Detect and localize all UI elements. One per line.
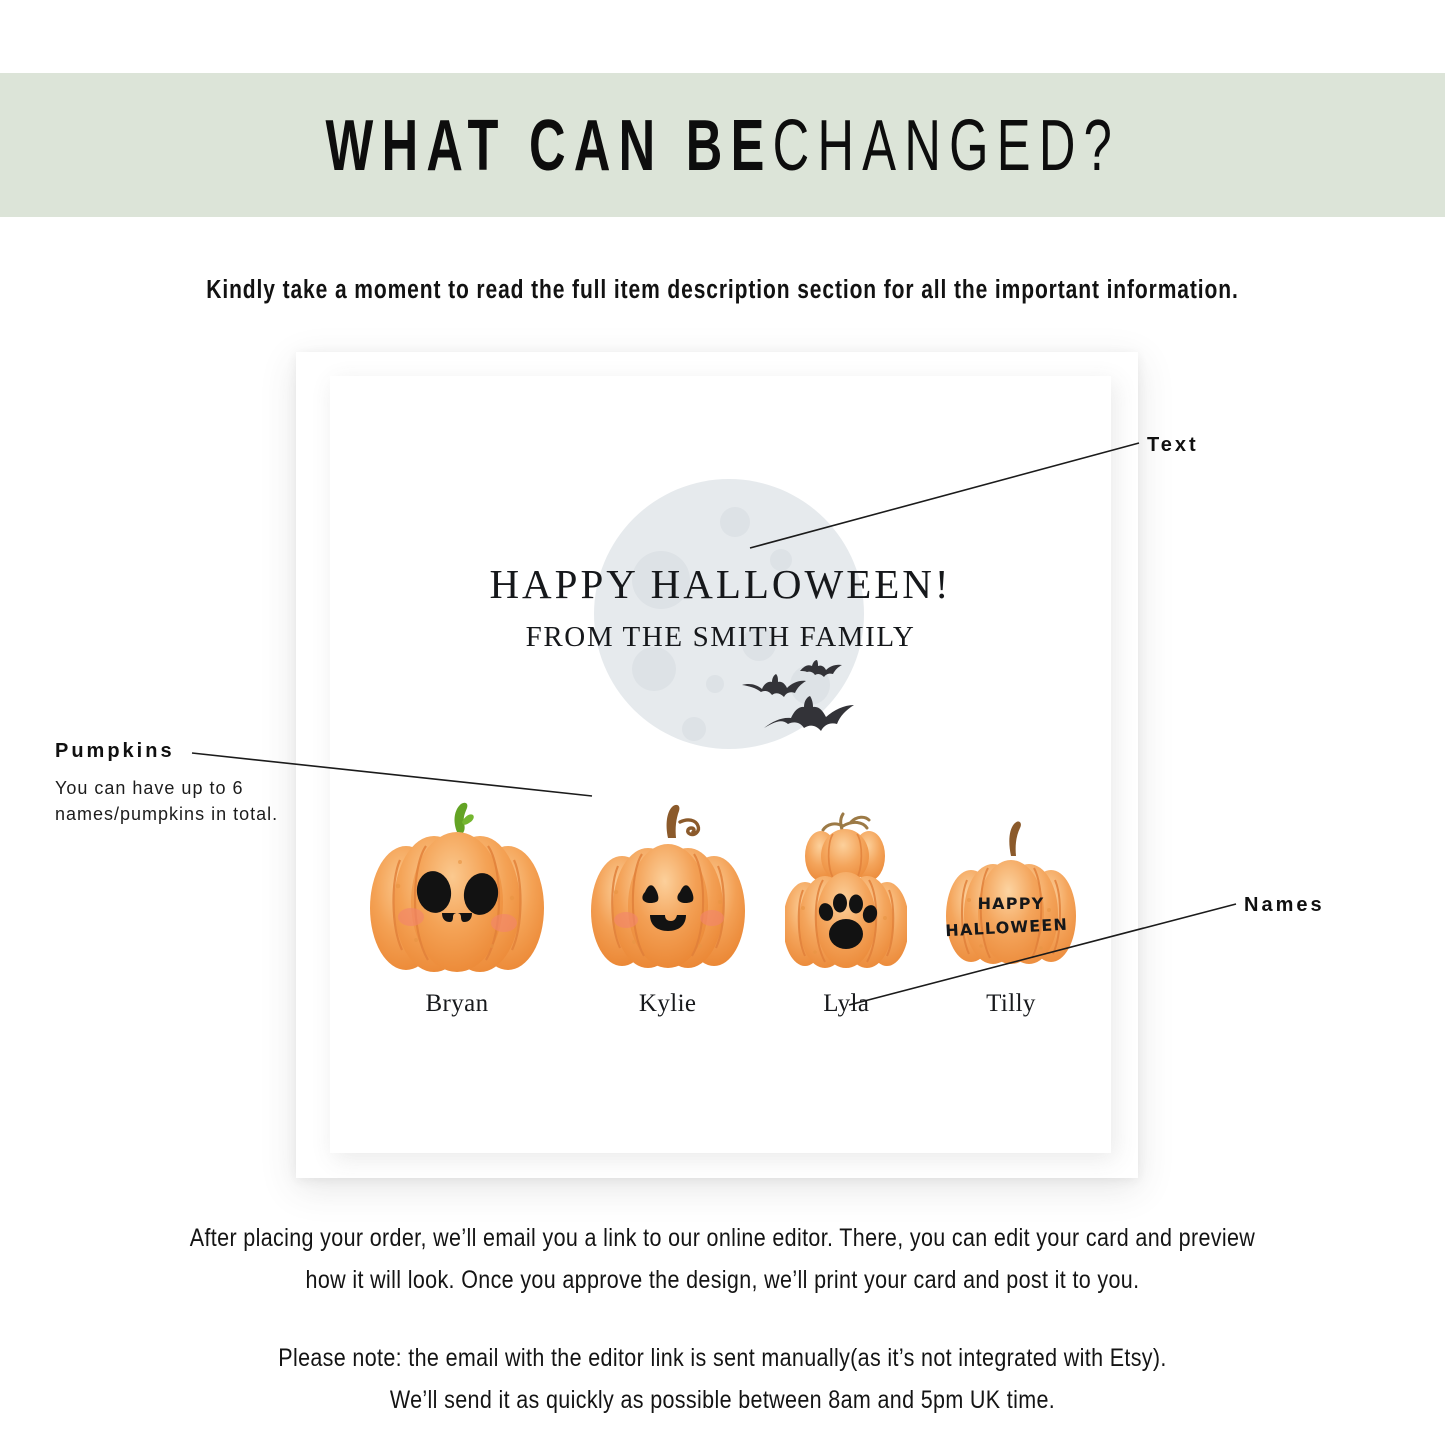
bats-graphic [740,654,870,744]
footer-paragraph-2: Please note: the email with the editor l… [0,1333,1445,1417]
pumpkin-name-2: Lyla [823,990,869,1018]
page-title: WHAT CAN BECHANGED? [325,109,1120,182]
annotation-label-pumpkins: Pumpkins [55,740,175,763]
pumpkin-graphic-bryan [364,800,550,978]
instruction-subtitle: Kindly take a moment to read the full it… [0,276,1445,305]
moon-crater [720,507,750,537]
pumpkin-item-1[interactable]: Kylie [588,800,748,1018]
footer-p2-line2: We’ll send it as quickly as possible bet… [0,1375,1445,1425]
card-text-group: HAPPY HALLOWEEN! FROM THE SMITH FAMILY [330,560,1111,654]
greeting-card-preview: HAPPY HALLOWEEN! FROM THE SMITH FAMILY [330,376,1111,1153]
pumpkin-graphic-lyla [785,800,907,978]
header-banner: WHAT CAN BECHANGED? [0,73,1445,217]
annotation-label-names: Names [1244,894,1325,917]
pumpkin-row: Bryan [364,808,1077,1018]
pumpkin-item-3[interactable]: HAPPY HALLOWEEN Tilly [945,800,1077,1018]
pumpkin-item-2[interactable]: Lyla [785,800,907,1018]
footer-paragraph-1: After placing your order, we’ll email yo… [0,1213,1445,1297]
pumpkin-graphic-tilly: HAPPY HALLOWEEN [945,800,1077,978]
pumpkin-name-3: Tilly [986,990,1036,1018]
moon-crater [682,717,706,741]
pumpkin-name-1: Kylie [639,990,697,1018]
pumpkin-item-0[interactable]: Bryan [364,800,550,1018]
card-subheading: FROM THE SMITH FAMILY [330,621,1111,654]
footer-p1-line2: how it will look. Once you approve the d… [0,1255,1445,1305]
pumpkin-written-line1: HAPPY [978,894,1045,913]
moon-crater [706,675,724,693]
annotation-label-text: Text [1147,434,1199,457]
annotation-note-pumpkins: You can have up to 6 names/pumpkins in t… [55,775,278,827]
card-heading: HAPPY HALLOWEEN! [330,560,1111,608]
pumpkin-name-0: Bryan [425,990,488,1018]
pumpkin-graphic-kylie [588,800,748,978]
page-title-light-part: CHANGED? [772,103,1119,185]
page-title-bold-part: WHAT CAN BE [325,103,772,185]
